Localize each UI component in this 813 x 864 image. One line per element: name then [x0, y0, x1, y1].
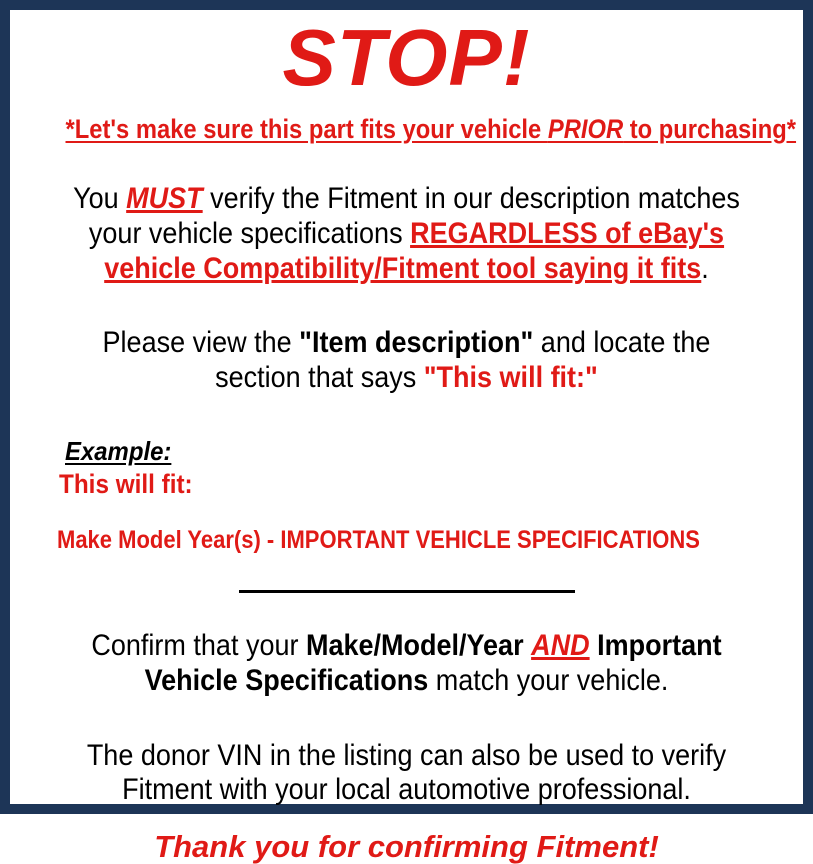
subtitle-prefix: *Let's make sure this part fits your veh… — [66, 114, 548, 144]
must-verify-paragraph: You MUST verify the Fitment in our descr… — [19, 145, 794, 286]
confirm-paragraph: Confirm that your Make/Model/Year AND Im… — [19, 601, 794, 699]
and-emphasis: AND — [531, 629, 590, 662]
closing-thank-you: Thank you for confirming Fitment! — [19, 808, 794, 864]
notice-content-area: STOP! *Let's make sure this part fits yo… — [10, 10, 803, 804]
page-title: STOP! — [19, 10, 794, 98]
subtitle-suffix: to purchasing* — [623, 114, 796, 144]
confirm-text-part2: match your vehicle. — [428, 664, 668, 697]
fitment-notice-card: STOP! *Let's make sure this part fits yo… — [0, 0, 813, 814]
must-text-part1: You — [73, 182, 126, 215]
example-block: Example: This will fit: Make Model Year(… — [19, 396, 794, 555]
confirm-space-1 — [524, 629, 532, 662]
subtitle-emphasis-prior: PRIOR — [548, 114, 623, 144]
must-emphasis: MUST — [126, 182, 203, 215]
donor-vin-paragraph: The donor VIN in the listing can also be… — [19, 699, 794, 809]
confirm-text-part1: Confirm that your — [91, 629, 306, 662]
must-text-part3: . — [701, 252, 709, 285]
item-description-paragraph: Please view the "Item description" and l… — [19, 286, 794, 396]
example-label: Example: — [65, 436, 171, 467]
subtitle-banner: *Let's make sure this part fits your veh… — [66, 98, 748, 145]
divider-wrapper — [19, 555, 794, 601]
horizontal-divider — [239, 590, 575, 593]
example-spec-line: Make Model Year(s) - IMPORTANT VEHICLE S… — [57, 500, 794, 555]
this-will-fit-quote: "This will fit:" — [424, 361, 598, 394]
view-text-part1: Please view the — [103, 326, 300, 359]
item-description-label: "Item description" — [299, 326, 533, 359]
make-model-year-label: Make/Model/Year — [306, 629, 524, 662]
example-fits-heading: This will fit: — [59, 467, 794, 500]
